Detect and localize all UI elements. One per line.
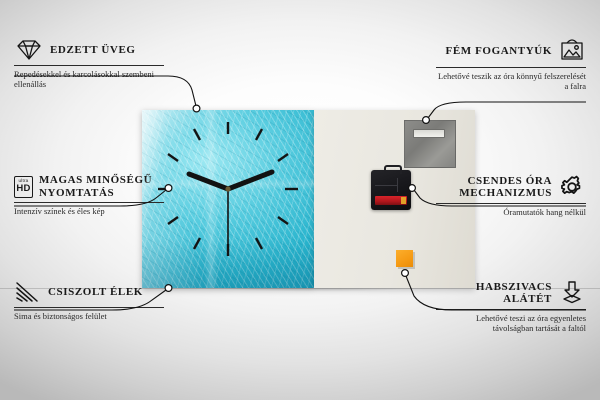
callout-rule-foam-pad [436,309,586,310]
callout-rule-tempered-glass [14,65,164,66]
bevel-lines-icon [14,280,42,304]
callout-rule-silent-mechanism [436,203,586,204]
clock-mechanism-part [371,170,411,210]
callout-title-polished-edges: CSISZOLT ÉLEK [48,286,143,299]
callout-metal-handles: FÉM FOGANTYÚK Lehetővé teszik az óra kön… [436,38,586,91]
ultra-hd-icon: ultra HD [14,176,33,198]
callout-head-foam-pad: HABSZIVACS ALÁTÉT [436,280,586,306]
metal-hanger-part [404,120,456,168]
callout-subtitle-tempered-glass: Repedésekkel és karcolásokkal szembeni e… [14,69,164,89]
callout-subtitle-polished-edges: Sima és biztonságos felület [14,311,164,321]
clock-dial [142,110,314,288]
callout-title-silent-mechanism: CSENDES ÓRA MECHANIZMUS [436,175,552,200]
battery-part [375,196,407,205]
ultra-hd-icon-large-text: HD [16,184,30,194]
callout-subtitle-foam-pad: Lehetővé teszi az óra egyenletes távolsá… [436,313,586,333]
callout-title-metal-handles: FÉM FOGANTYÚK [446,45,553,58]
callout-tempered-glass: EDZETT ÜVEG Repedésekkel és karcolásokka… [14,38,164,89]
mechanism-seam-vertical [397,178,398,192]
callout-silent-mechanism: CSENDES ÓRA MECHANIZMUS Óramutatók hang … [436,174,586,217]
arrow-down-pad-icon [558,280,586,306]
battery-terminal [401,197,406,204]
picture-hanger-icon [558,38,586,64]
gear-icon [558,174,586,200]
callout-rule-polished-edges [14,307,164,308]
callout-rule-metal-handles [436,67,586,68]
callout-subtitle-silent-mechanism: Óramutatók hang nélkül [436,207,586,217]
callout-foam-pad: HABSZIVACS ALÁTÉT Lehetővé teszi az óra … [436,280,586,333]
hanger-slot [413,129,445,138]
callout-title-tempered-glass: EDZETT ÜVEG [50,44,136,57]
diamond-icon [14,38,44,62]
callout-head-tempered-glass: EDZETT ÜVEG [14,38,164,62]
callout-head-silent-mechanism: CSENDES ÓRA MECHANIZMUS [436,174,586,200]
clock-front-panel [142,110,314,288]
infographic-canvas: EDZETT ÜVEG Repedésekkel és karcolásokka… [0,0,600,400]
callout-subtitle-metal-handles: Lehetővé teszik az óra könnyű felszerelé… [436,71,586,91]
mechanism-tab [384,165,402,174]
callout-title-foam-pad: HABSZIVACS ALÁTÉT [436,281,552,306]
callout-head-metal-handles: FÉM FOGANTYÚK [436,38,586,64]
foam-pad-part [396,250,413,267]
mechanism-seam [375,185,397,186]
